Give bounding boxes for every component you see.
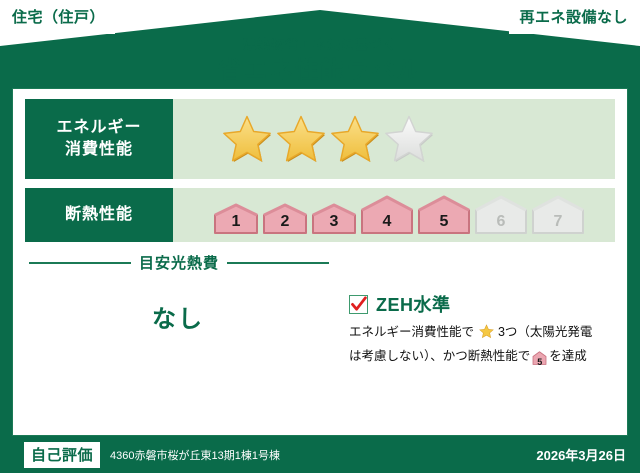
house-shape-icon [417, 195, 471, 235]
insulation-level-2: 2 [262, 195, 308, 235]
house-shape-icon [531, 195, 585, 235]
inline-star-icon [475, 328, 497, 342]
star-empty-icon [383, 114, 435, 164]
label-inner-panel: エネルギー 消費性能 断熱性能 1234567 目安光熱費 なし [12, 88, 628, 436]
star-filled-icon [329, 114, 381, 164]
self-evaluation-badge: 自己評価 [24, 442, 100, 468]
house-shape-icon [474, 195, 528, 235]
house-shape-icon [311, 203, 357, 235]
utility-cost-heading: 目安光熱費 [29, 252, 329, 273]
star-rating [221, 114, 435, 164]
insulation-performance-value: 1234567 [173, 188, 615, 242]
zeh-desc-part1: エネルギー消費性能で [349, 325, 474, 339]
utility-cost-value: なし [25, 299, 331, 334]
insulation-performance-row: 断熱性能 1234567 [25, 188, 615, 242]
title-block: 建築物省エネ法に基づく 省エネ性能ラベル [0, 36, 640, 86]
house-shape-icon [262, 203, 308, 235]
star-filled-icon [221, 114, 273, 164]
insulation-scale: 1234567 [213, 195, 585, 235]
insulation-level-3: 3 [311, 195, 357, 235]
insulation-level-4: 4 [360, 195, 414, 235]
heading-rule-right [227, 262, 329, 264]
energy-performance-label: エネルギー 消費性能 [25, 99, 173, 179]
insulation-level-5: 5 [417, 195, 471, 235]
insulation-performance-label: 断熱性能 [25, 188, 173, 242]
zeh-header: ZEH水準 [349, 291, 609, 317]
checkmark-icon [351, 296, 367, 313]
energy-label-card: 住宅（住戸） 再エネ設備なし 建築物省エネ法に基づく 省エネ性能ラベル エネルギ… [0, 0, 640, 473]
energy-performance-value [173, 99, 615, 179]
house-shape-icon [360, 195, 414, 235]
zeh-desc-star-count: 3つ（太陽光発電 [498, 325, 592, 339]
badge-building-type: 住宅（住戸） [0, 0, 115, 34]
heading-rule-left [29, 262, 131, 264]
inline-house-icon: 5 [532, 351, 547, 372]
title-subtitle: 建築物省エネ法に基づく [0, 36, 640, 54]
zeh-checkbox[interactable] [349, 295, 368, 314]
issue-date: 2026年3月26日 [536, 445, 626, 464]
insulation-level-7: 7 [531, 195, 585, 235]
insulation-level-6: 6 [474, 195, 528, 235]
badge-renewable-equipment: 再エネ設備なし [509, 0, 640, 34]
zeh-desc-part3: を達成 [549, 349, 587, 363]
zeh-block: ZEH水準 エネルギー消費性能で 3つ（太陽光発電 は考慮しない）、かつ断熱性能… [331, 273, 615, 371]
utility-cost-block: なし [25, 273, 331, 334]
house-shape-icon [213, 203, 259, 235]
footer-bar: 自己評価 4360赤磐市桜が丘東13期1棟1号棟 2026年3月26日 [0, 436, 640, 473]
page-title: 省エネ性能ラベル [0, 56, 640, 86]
inline-house-value: 5 [532, 355, 547, 370]
lower-content: なし ZEH水準 エネルギー消費性能で 3つ（太 [25, 273, 615, 371]
property-address: 4360赤磐市桜が丘東13期1棟1号棟 [110, 447, 536, 463]
zeh-desc-part2: は考慮しない）、かつ断熱性能で [349, 349, 530, 363]
insulation-level-1: 1 [213, 195, 259, 235]
zeh-title: ZEH水準 [376, 291, 451, 317]
energy-performance-label-line2: 消費性能 [65, 139, 133, 161]
star-filled-icon [275, 114, 327, 164]
utility-cost-heading-text: 目安光熱費 [139, 252, 219, 273]
energy-performance-row: エネルギー 消費性能 [25, 99, 615, 179]
zeh-description: エネルギー消費性能で 3つ（太陽光発電 は考慮しない）、かつ断熱性能で 5 を達… [349, 322, 609, 371]
insulation-performance-label-text: 断熱性能 [65, 204, 133, 226]
energy-performance-label-line1: エネルギー [56, 117, 141, 139]
